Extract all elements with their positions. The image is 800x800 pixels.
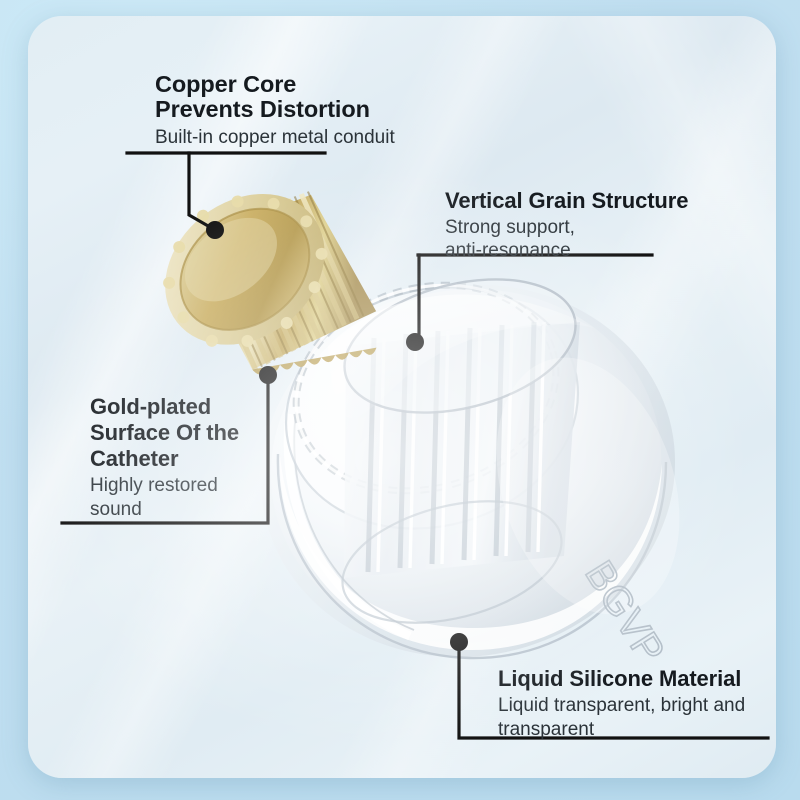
callout-copper-core-subtitle: Built-in copper metal conduit bbox=[155, 126, 395, 150]
anchor-dot-gold-plated bbox=[259, 366, 277, 384]
callout-liquid-silicone: Liquid Silicone Material Liquid transpar… bbox=[498, 666, 745, 742]
callout-liquid-silicone-title: Liquid Silicone Material bbox=[498, 666, 745, 692]
callout-liquid-silicone-subtitle: Liquid transparent, bright and transpare… bbox=[498, 694, 745, 742]
callout-gold-plated: Gold-plated Surface Of the Catheter High… bbox=[90, 394, 239, 522]
content-panel: BGVP bbox=[28, 16, 776, 778]
anchor-dot-liquid-silicone bbox=[450, 633, 468, 651]
anchor-dot-copper-core bbox=[206, 221, 224, 239]
callout-gold-plated-subtitle: Highly restored sound bbox=[90, 474, 239, 522]
anchor-dot-vertical-grain bbox=[406, 333, 424, 351]
copper-sound-tube-group bbox=[119, 145, 384, 399]
callout-copper-core: Copper Core Prevents Distortion Built-in… bbox=[155, 72, 395, 150]
callout-vertical-grain-subtitle: Strong support, anti-resonance bbox=[445, 216, 688, 262]
callout-copper-core-title: Copper Core Prevents Distortion bbox=[155, 72, 395, 122]
svg-text:BGVP: BGVP bbox=[576, 553, 672, 671]
bgvp-logo: BGVP bbox=[576, 553, 672, 671]
product-infographic: BGVP bbox=[0, 0, 800, 800]
callout-vertical-grain: Vertical Grain Structure Strong support,… bbox=[445, 188, 688, 262]
silicone-eartip-group: BGVP bbox=[226, 247, 710, 695]
callout-gold-plated-title: Gold-plated Surface Of the Catheter bbox=[90, 394, 239, 472]
callout-vertical-grain-title: Vertical Grain Structure bbox=[445, 188, 688, 214]
